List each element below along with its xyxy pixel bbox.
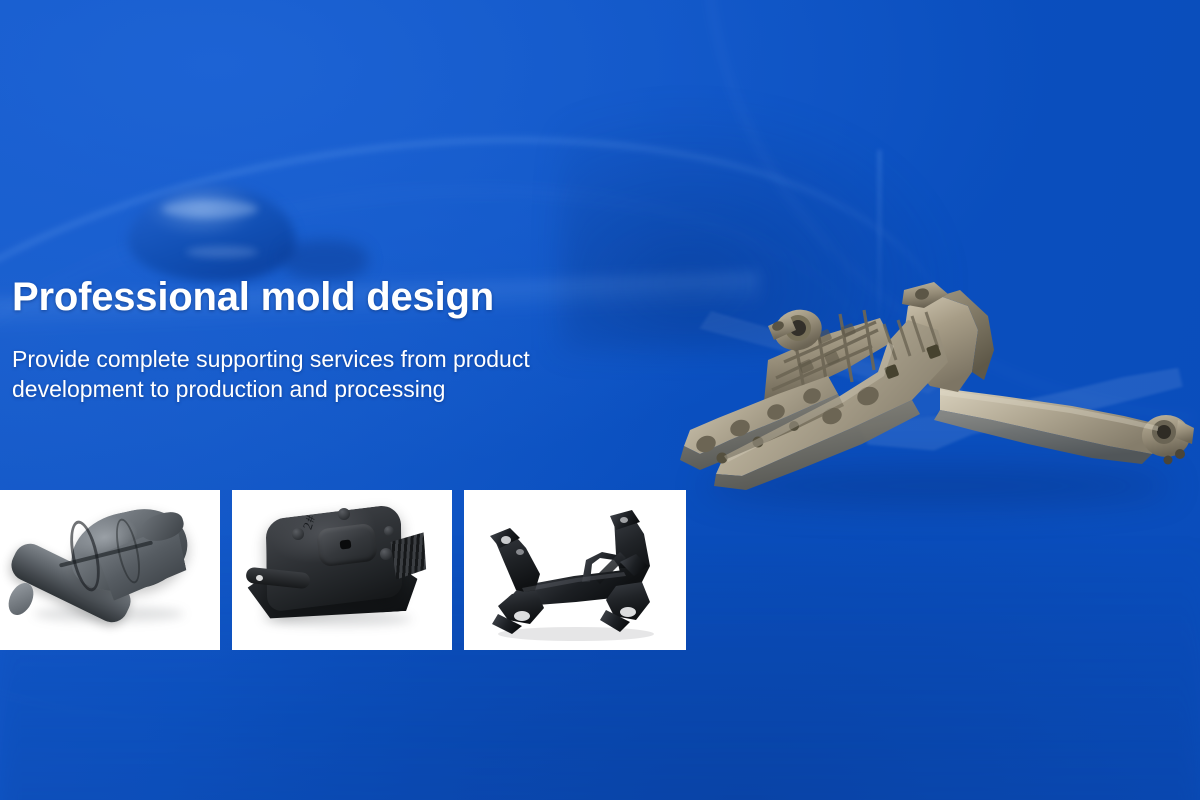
thumb-3-bracket-shape [464, 490, 686, 650]
car-mirror-highlight-1 [162, 200, 258, 218]
hero-product-image [672, 268, 1200, 688]
thumb-2-boss-hole [339, 539, 351, 549]
hero-banner: Professional mold design Provide complet… [0, 0, 1200, 800]
thumb-2-stud [384, 526, 394, 536]
hero-part-shape [672, 268, 1200, 498]
thumbnail-metallic-intake-housing[interactable] [0, 490, 220, 650]
thumb-1-stage [0, 490, 220, 650]
thumb-2-stud [380, 548, 392, 560]
thumb-2-stage: 2# [232, 490, 452, 650]
thumb-2-stud [338, 508, 350, 520]
page-title: Professional mold design [12, 276, 692, 319]
thumbnail-black-engine-cover[interactable]: 2# [232, 490, 452, 650]
thumbnail-black-structural-bracket[interactable] [464, 490, 686, 650]
car-mirror-arm [282, 240, 368, 280]
car-mirror-highlight-2 [186, 246, 258, 258]
banner-copy: Professional mold design Provide complet… [12, 276, 692, 404]
banner-subtitle: Provide complete supporting services fro… [12, 345, 652, 404]
thumb-2-stud [292, 528, 304, 540]
thumb-3-stage [464, 490, 686, 650]
